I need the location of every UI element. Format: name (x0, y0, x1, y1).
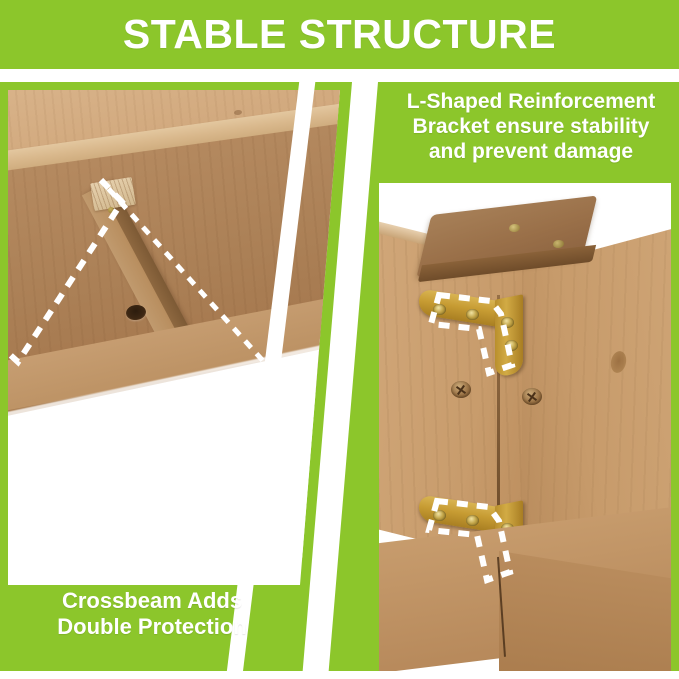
right-panel-caption: L-Shaped Reinforcement Bracket ensure st… (388, 90, 674, 164)
infographic-root: STABLE STRUCTURE (0, 0, 679, 679)
bracket-vertical-arm (495, 294, 523, 377)
screw-icon (466, 515, 479, 526)
caption-line: and prevent damage (388, 140, 674, 165)
caption-line: L-Shaped Reinforcement (388, 90, 674, 115)
left-panel-caption: Crossbeam Adds Double Protection (26, 588, 278, 640)
screw-icon (466, 309, 479, 320)
caption-line: Crossbeam Adds (26, 588, 278, 614)
wood-screw-icon (451, 381, 471, 398)
screw-icon (108, 207, 114, 213)
wood-screw-icon (522, 388, 542, 405)
page-title: STABLE STRUCTURE (123, 14, 556, 55)
screw-icon (433, 304, 446, 315)
screw-icon (505, 340, 518, 351)
bracket-photo (379, 183, 671, 671)
bracket-scene (379, 183, 671, 671)
screw-icon (501, 317, 514, 328)
bottom-strip (0, 671, 679, 679)
caption-line: Double Protection (26, 614, 278, 640)
screw-icon (433, 510, 446, 521)
header-banner: STABLE STRUCTURE (0, 0, 679, 69)
caption-line: Bracket ensure stability (388, 115, 674, 140)
